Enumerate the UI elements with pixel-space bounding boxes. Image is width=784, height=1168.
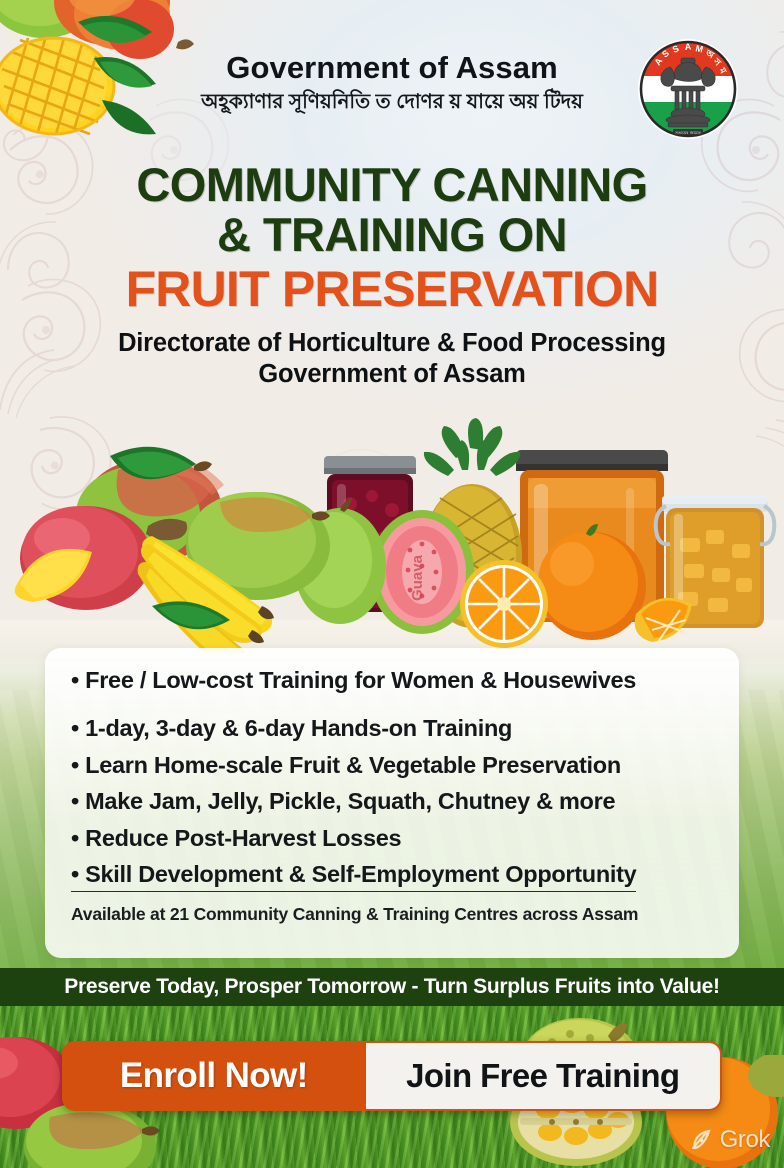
orange-slice xyxy=(460,560,548,648)
assam-state-emblem-icon: A S S A M অ স ম সত্যমেব জয়তে xyxy=(635,36,741,142)
main-title-block: COMMUNITY CANNING & TRAINING ON FRUIT PR… xyxy=(0,160,784,390)
title-accent-line: FRUIT PRESERVATION xyxy=(0,262,784,317)
cta-button-group[interactable]: Enroll Now! Join Free Training xyxy=(62,1041,722,1111)
poster-canvas: Government of Assam অহূক্যাণার সূণিয়নিত… xyxy=(0,0,784,1168)
tagline-text: Preserve Today, Prosper Tomorrow - Turn … xyxy=(64,975,719,999)
join-free-training-button[interactable]: Join Free Training xyxy=(366,1041,722,1111)
fruit-and-preserves-image: Guava xyxy=(0,418,784,653)
grok-logo-icon xyxy=(689,1127,715,1153)
svg-text:সত্যমেব জয়তে: সত্যমেব জয়তে xyxy=(674,130,702,135)
list-item: • Learn Home-scale Fruit & Vegetable Pre… xyxy=(71,751,713,780)
title-line-2: & TRAINING ON xyxy=(0,210,784,260)
grok-watermark-label: Grok xyxy=(720,1126,770,1154)
list-item: • Make Jam, Jelly, Pickle, Squath, Chutn… xyxy=(71,787,713,816)
list-item: • 1-day, 3-day & 6-day Hands-on Training xyxy=(71,714,713,743)
list-item: • Skill Development & Self-Employment Op… xyxy=(71,860,636,892)
tagline-banner: Preserve Today, Prosper Tomorrow - Turn … xyxy=(0,968,784,1006)
grok-watermark: Grok xyxy=(689,1126,770,1154)
centres-availability-note: Available at 21 Community Canning & Trai… xyxy=(71,904,713,925)
title-line-1: COMMUNITY CANNING xyxy=(0,160,784,210)
subtitle-line-2: Government of Assam xyxy=(0,359,784,390)
features-panel: • Free / Low-cost Training for Women & H… xyxy=(45,648,739,958)
mango-sliced xyxy=(15,506,152,610)
join-free-training-label: Join Free Training xyxy=(406,1057,679,1095)
enroll-now-label: Enroll Now! xyxy=(120,1056,308,1096)
list-item: • Free / Low-cost Training for Women & H… xyxy=(71,666,713,695)
svg-text:Guava: Guava xyxy=(409,554,426,601)
subtitle-line-1: Directorate of Horticulture & Food Proce… xyxy=(0,328,784,359)
enroll-now-button[interactable]: Enroll Now! xyxy=(62,1041,366,1111)
list-item: • Reduce Post-Harvest Losses xyxy=(71,824,713,853)
